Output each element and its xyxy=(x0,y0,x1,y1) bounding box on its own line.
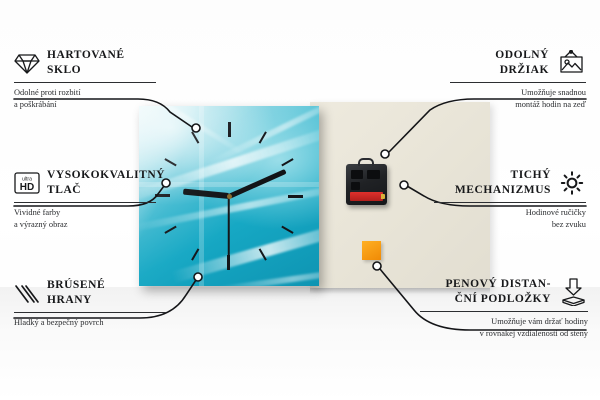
clock-second-hand xyxy=(228,196,230,260)
callout-description: Hladký a bezpečný povrch xyxy=(14,317,166,329)
infographic-stage: HARTOVANÉ SKLO Odolné proti rozbití a po… xyxy=(0,0,600,400)
callout-title: VYSOKOKVALITNÝ TLAČ xyxy=(47,168,165,197)
callout-high-quality-print: ultra HD VYSOKOKVALITNÝ TLAČ Vividné far… xyxy=(14,168,156,231)
callout-durable-holder: ODOLNÝ DRŽIAK Umožňuje snadnou montáž ho… xyxy=(450,48,586,111)
clock-tick xyxy=(229,195,303,197)
hanging-picture-frame-icon xyxy=(556,50,586,76)
arrow-onto-stack-icon xyxy=(558,278,588,306)
callout-description: Hodinové ručičky bez zvuku xyxy=(434,207,586,231)
callout-title: ODOLNÝ DRŽIAK xyxy=(450,48,549,77)
mechanism-hanger xyxy=(358,158,374,166)
mechanism-slot xyxy=(351,170,363,179)
callout-description: Umožňuje vám držať hodiny v rovnakej vzd… xyxy=(420,316,588,340)
callout-divider xyxy=(450,82,586,83)
gear-icon xyxy=(558,170,586,196)
callout-divider xyxy=(14,202,156,203)
mechanism-slot xyxy=(351,182,360,190)
callout-divider xyxy=(420,311,588,312)
callout-polished-edges: BRÚSENÉ HRANY Hladký a bezpečný povrch xyxy=(14,278,166,329)
clock-tick xyxy=(228,122,230,196)
glass-wall-clock[interactable] xyxy=(139,106,319,286)
clock-mechanism[interactable] xyxy=(346,164,387,205)
callout-description: Vividné farby a výrazný obraz xyxy=(14,207,156,231)
foam-spacer-pad[interactable] xyxy=(362,241,381,260)
callout-tempered-glass: HARTOVANÉ SKLO Odolné proti rozbití a po… xyxy=(14,48,156,111)
callout-divider xyxy=(434,202,586,203)
callout-title: TICHÝ MECHANIZMUS xyxy=(434,168,551,197)
callout-divider xyxy=(14,312,166,313)
svg-text:HD: HD xyxy=(20,182,34,193)
callout-divider xyxy=(14,82,156,83)
callout-title: HARTOVANÉ SKLO xyxy=(47,48,125,77)
callout-silent-mechanism: TICHÝ MECHANIZMUS Hodinové ručičky bez z… xyxy=(434,168,586,231)
battery xyxy=(350,192,383,201)
diagonal-lines-icon xyxy=(14,281,40,305)
mechanism-slot xyxy=(367,170,380,179)
callout-foam-spacers: PENOVÝ DISTAN- ČNÍ PODLOŽKY Umožňuje vám… xyxy=(420,277,588,340)
diamond-icon xyxy=(14,51,40,75)
callout-description: Odolné proti rozbití a poškrábání xyxy=(14,87,156,111)
ultra-hd-icon: ultra HD xyxy=(14,171,40,195)
callout-description: Umožňuje snadnou montáž hodin na zeď xyxy=(450,87,586,111)
callout-title: BRÚSENÉ HRANY xyxy=(47,278,105,307)
callout-title: PENOVÝ DISTAN- ČNÍ PODLOŽKY xyxy=(420,277,551,306)
clock-center-pin xyxy=(227,194,232,199)
